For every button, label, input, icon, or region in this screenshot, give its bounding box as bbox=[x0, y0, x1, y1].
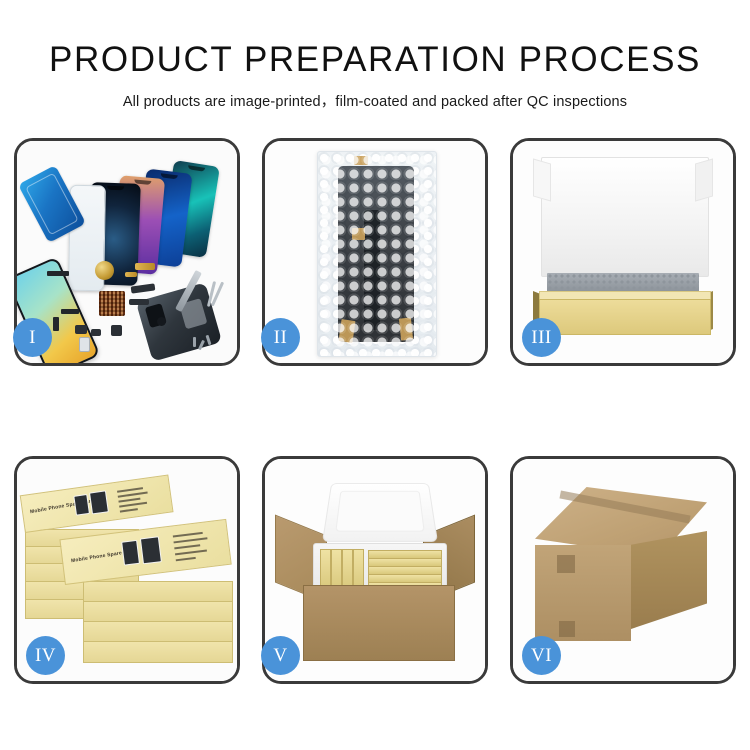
box-lid-flap-left bbox=[533, 158, 551, 201]
bubble-wrap-bag bbox=[317, 151, 437, 357]
box-text-line bbox=[174, 537, 208, 543]
flex-cable-icon bbox=[131, 283, 156, 293]
foam-lid bbox=[322, 483, 438, 542]
screw-icon bbox=[193, 337, 196, 347]
phone-notch bbox=[107, 186, 124, 191]
chip-grid-icon bbox=[99, 291, 125, 316]
phone-notch bbox=[160, 173, 177, 179]
flex-cable-icon bbox=[129, 299, 149, 305]
camera-module-icon bbox=[157, 317, 166, 326]
tape-strip bbox=[399, 317, 413, 340]
phone-notch bbox=[188, 165, 205, 172]
box-text-line bbox=[176, 557, 196, 561]
box-text-line bbox=[118, 492, 148, 498]
box-phone-image bbox=[140, 536, 162, 564]
page-title: PRODUCT PREPARATION PROCESS bbox=[0, 0, 750, 79]
page-subtitle: All products are image-printed，film-coat… bbox=[0, 79, 750, 111]
process-step-4: Mobile Phone Spare Parts Mobile Phone Sp… bbox=[14, 456, 240, 684]
carton-tab bbox=[559, 621, 575, 637]
box-lid-flap-right bbox=[695, 158, 713, 201]
connector-bar-icon bbox=[47, 271, 69, 276]
box-text-line bbox=[174, 544, 200, 549]
box-edge bbox=[83, 601, 233, 623]
sim-tray-icon bbox=[79, 337, 90, 352]
tape-strip bbox=[352, 228, 365, 240]
box-text-line bbox=[119, 502, 147, 507]
box-edge bbox=[83, 581, 233, 603]
wrapped-flex-cable bbox=[364, 210, 380, 330]
coil-part-icon bbox=[95, 261, 114, 280]
box-text-line bbox=[117, 487, 143, 492]
step-badge-6: VI bbox=[522, 636, 561, 675]
box-text-line bbox=[118, 498, 140, 503]
product-preparation-infographic: PRODUCT PREPARATION PROCESS All products… bbox=[0, 0, 750, 750]
process-step-grid: I II bbox=[14, 138, 736, 684]
carton-tab bbox=[557, 555, 575, 573]
header: PRODUCT PREPARATION PROCESS All products… bbox=[0, 0, 750, 111]
small-module-icon bbox=[111, 325, 122, 336]
box-phone-image bbox=[121, 540, 140, 566]
process-step-6: VI bbox=[510, 456, 736, 684]
step-badge-4: IV bbox=[26, 636, 65, 675]
carton-body bbox=[303, 585, 455, 661]
tweezers-icon bbox=[203, 281, 229, 307]
step-badge-3: III bbox=[522, 318, 561, 357]
process-step-5: V bbox=[262, 456, 488, 684]
step-badge-1: I bbox=[13, 318, 52, 357]
flex-cable-icon bbox=[75, 325, 87, 334]
box-lid bbox=[541, 157, 709, 277]
box-edge bbox=[83, 641, 233, 663]
process-step-3: III bbox=[510, 138, 736, 366]
tape-strip bbox=[354, 156, 368, 165]
box-text-line bbox=[120, 508, 138, 512]
carton-front-face bbox=[535, 545, 631, 641]
process-step-1: I bbox=[14, 138, 240, 366]
gold-contact-icon bbox=[135, 263, 155, 270]
carton-side-face bbox=[631, 531, 707, 629]
box-text-line bbox=[175, 549, 207, 554]
box-body bbox=[539, 299, 711, 335]
retail-box-top-left: Mobile Phone Spare Parts bbox=[20, 474, 174, 533]
gold-contact-icon bbox=[125, 272, 137, 277]
step-badge-5: V bbox=[261, 636, 300, 675]
box-edge bbox=[83, 621, 233, 643]
connector-bar-icon bbox=[53, 317, 59, 331]
box-text-line bbox=[173, 532, 203, 537]
step-badge-2: II bbox=[261, 318, 300, 357]
flex-cable-icon bbox=[91, 329, 101, 336]
box-phone-image bbox=[89, 490, 109, 514]
box-phone-image bbox=[73, 494, 90, 516]
connector-bar-icon bbox=[61, 309, 79, 314]
process-step-2: II bbox=[262, 138, 488, 366]
